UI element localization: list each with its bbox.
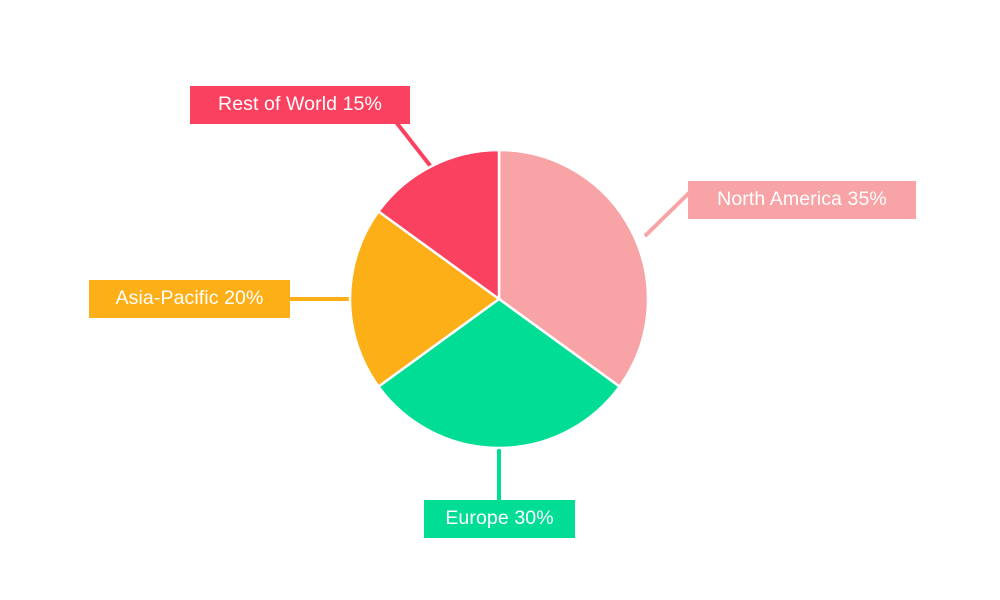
pie-slice-group bbox=[350, 150, 648, 448]
pie-label-asia-pacific[interactable]: Asia-Pacific 20% bbox=[89, 280, 290, 318]
pie-label-europe[interactable]: Europe 30% bbox=[424, 500, 575, 538]
pie-label-north-america[interactable]: North America 35% bbox=[688, 181, 916, 219]
leader-line-rest-of-world bbox=[396, 122, 432, 168]
leader-line-north-america bbox=[645, 192, 690, 236]
pie-chart-figure: North America 35%Europe 30%Asia-Pacific … bbox=[0, 0, 1000, 600]
pie-label-rest-of-world[interactable]: Rest of World 15% bbox=[190, 86, 410, 124]
